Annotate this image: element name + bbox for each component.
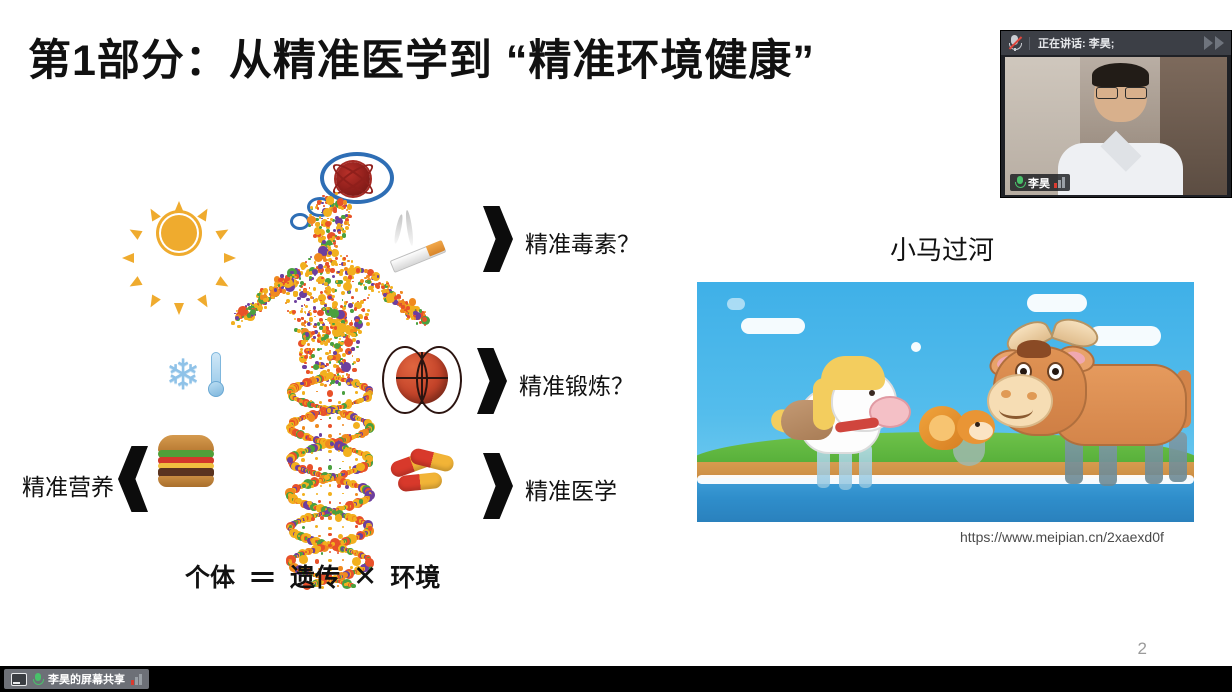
figure-dot <box>328 450 331 453</box>
sun-ray <box>146 206 161 221</box>
figure-dot <box>320 348 322 350</box>
equation-equals-icon: ＝ <box>248 555 277 597</box>
precision-health-diagram: ❄ 精准毒素？ 精准锻炼？ <box>0 120 680 600</box>
figure-dot <box>333 240 335 242</box>
figure-dot <box>304 362 306 364</box>
figure-dot <box>308 258 310 260</box>
figure-dot <box>287 310 289 312</box>
arrow-label-exercise: 精准锻炼？ <box>519 367 634 401</box>
arrow-label-toxins: 精准毒素？ <box>525 225 640 259</box>
cloud-icon <box>741 318 805 334</box>
equation-term-environment: 环境 <box>390 558 440 594</box>
figure-dot <box>342 233 346 237</box>
figure-dot <box>335 257 337 259</box>
figure-dot <box>364 269 367 272</box>
figure-dot <box>287 457 293 463</box>
figure-dot <box>322 240 326 244</box>
figure-dot <box>315 424 319 428</box>
figure-dot <box>305 305 309 309</box>
figure-dot <box>342 526 344 528</box>
figure-dot <box>352 363 354 365</box>
figure-dot <box>337 416 341 420</box>
figure-dot <box>406 306 410 310</box>
figure-dot <box>343 282 352 291</box>
figure-dot <box>241 320 243 322</box>
figure-dot <box>324 341 328 345</box>
figure-dot <box>329 417 331 419</box>
figure-dot <box>355 525 358 528</box>
figure-dot <box>319 326 323 330</box>
figure-dot <box>294 318 296 320</box>
participant-name: 李昊 <box>1028 175 1050 191</box>
figure-dot <box>330 309 338 317</box>
figure-dot <box>386 281 388 283</box>
equation-multiply-icon: ✕ <box>353 559 377 594</box>
figure-dot <box>349 434 351 436</box>
figure-dot <box>360 316 363 319</box>
figure-dot <box>362 308 365 311</box>
screen-share-label: 李昊的屏幕共享 <box>48 671 125 687</box>
figure-dot <box>320 384 322 386</box>
figure-dot <box>310 279 312 281</box>
figure-dot <box>346 518 348 520</box>
figure-dot <box>307 501 312 506</box>
figure-dot <box>340 255 342 257</box>
glasses-icon <box>1096 87 1118 99</box>
figure-dot <box>350 265 354 269</box>
figure-dot <box>310 371 313 374</box>
figure-dot <box>333 207 336 210</box>
video-panel-header[interactable]: 正在讲话: 李昊; <box>1001 31 1231 55</box>
figure-dot <box>363 299 366 302</box>
figure-dot <box>332 301 338 307</box>
chevron-right-icon[interactable] <box>1204 36 1224 50</box>
figure-dot <box>322 195 324 197</box>
figure-dot <box>318 535 320 537</box>
figure-dot <box>243 310 248 315</box>
figure-dot <box>316 366 319 369</box>
figure-dot <box>329 459 331 461</box>
figure-dot <box>355 484 357 486</box>
figure-dot <box>369 392 371 394</box>
figure-dot <box>336 361 338 363</box>
figure-dot <box>317 310 324 317</box>
figure-dot <box>320 291 323 294</box>
arrow-label-medicine: 精准医学 <box>525 472 617 506</box>
figure-dot <box>315 264 317 266</box>
audio-bars-icon <box>131 674 142 685</box>
figure-dot <box>282 289 286 293</box>
figure-dot <box>327 218 329 220</box>
figure-dot <box>307 343 310 346</box>
figure-dot <box>231 321 235 325</box>
figure-dot <box>346 399 352 405</box>
figure-dot <box>343 276 347 280</box>
figure-dot <box>302 365 306 369</box>
figure-dot <box>309 318 311 320</box>
figure-dot <box>381 283 384 286</box>
figure-dot <box>367 457 372 462</box>
figure-dot <box>411 316 414 319</box>
figure-dot <box>284 278 288 282</box>
figure-dot <box>345 214 348 217</box>
participant-hair <box>1092 63 1150 88</box>
figure-dot <box>328 544 331 547</box>
speaking-label: 正在讲话: 李昊; <box>1038 35 1114 51</box>
figure-dot <box>319 433 322 436</box>
figure-dot <box>345 551 347 553</box>
figure-dot <box>318 264 323 269</box>
figure-dot <box>399 296 402 299</box>
figure-dot <box>338 231 341 234</box>
burger-icon <box>158 435 214 487</box>
figure-dot <box>305 312 307 314</box>
figure-dot <box>378 291 380 293</box>
figure-dot <box>368 286 372 290</box>
figure-dot <box>332 323 334 325</box>
figure-dot <box>329 501 331 503</box>
figure-dot <box>351 333 355 337</box>
figure-dot <box>387 290 389 292</box>
figure-dot <box>313 287 316 290</box>
figure-dot <box>309 435 312 438</box>
figure-dot <box>313 299 316 302</box>
figure-dot <box>278 284 281 287</box>
figure-dot <box>323 208 332 217</box>
figure-dot <box>311 354 315 358</box>
screen-share-status-chip[interactable]: 李昊的屏幕共享 <box>4 669 149 689</box>
figure-dot <box>317 207 319 209</box>
figure-dot <box>298 535 300 537</box>
figure-dot <box>311 517 315 521</box>
sun-ray <box>174 201 184 213</box>
figure-dot <box>334 326 338 330</box>
arrow-right-exercise-icon <box>477 348 507 414</box>
figure-dot <box>319 357 322 360</box>
figure-dot <box>351 260 354 263</box>
figure-dot <box>305 261 307 263</box>
figure-dot <box>356 463 365 472</box>
figure-dot <box>360 279 364 283</box>
figure-dot <box>320 321 323 324</box>
figure-dot <box>332 510 336 514</box>
sun-ray <box>215 225 230 240</box>
figure-dot <box>300 348 303 351</box>
figure-dot <box>269 286 273 290</box>
figure-dot <box>326 372 333 379</box>
figure-dot <box>310 256 312 258</box>
figure-dot <box>356 450 358 452</box>
figure-dot <box>409 298 416 305</box>
figure-dot <box>312 269 318 275</box>
figure-dot <box>355 288 358 291</box>
figure-dot <box>342 424 344 426</box>
figure-dot <box>342 461 344 463</box>
figure-dot <box>338 401 340 403</box>
figure-dot <box>360 534 364 538</box>
figure-dot <box>296 281 299 284</box>
figure-dot <box>321 202 323 204</box>
cloud-icon <box>727 298 745 310</box>
sun-ray <box>127 225 142 240</box>
figure-dot <box>337 271 339 273</box>
figure-dot <box>367 309 370 312</box>
figure-dot <box>358 434 361 437</box>
figure-dot <box>311 224 313 226</box>
sun-ray <box>197 294 212 309</box>
thermometer-icon <box>208 352 222 400</box>
figure-dot <box>406 318 408 320</box>
figure-dot <box>351 296 354 299</box>
figure-dot <box>328 465 332 469</box>
figure-dot <box>344 221 347 224</box>
figure-dot <box>301 340 306 345</box>
figure-dot <box>330 442 334 446</box>
figure-dot <box>390 286 394 290</box>
figure-dot <box>339 433 341 435</box>
figure-dot <box>329 384 331 386</box>
sun-ray <box>174 303 184 315</box>
figure-dot <box>313 551 315 553</box>
image-source-caption: https://www.meipian.cn/2xaexd0f <box>960 529 1164 545</box>
figure-dot <box>328 434 332 438</box>
video-panel[interactable]: 正在讲话: 李昊; 李昊 <box>1001 31 1231 197</box>
figure-dot <box>307 534 311 538</box>
slide-canvas: 第1部分：从精准医学到 “精准环境健康” ❄ <box>0 0 1232 692</box>
figure-dot <box>353 422 360 429</box>
figure-dot <box>339 468 341 470</box>
figure-dot <box>323 340 325 342</box>
figure-dot <box>348 211 351 214</box>
figure-dot <box>328 533 331 536</box>
figure-dot <box>323 205 325 207</box>
figure-dot <box>317 200 322 205</box>
figure-dot <box>351 347 354 350</box>
figure-dot <box>307 313 310 316</box>
figure-dot <box>302 484 306 488</box>
figure-dot <box>356 340 360 344</box>
figure-dot <box>278 278 283 283</box>
figure-dot <box>355 319 359 323</box>
figure-dot <box>342 391 345 394</box>
arrow-label-nutrition: 精准营养 <box>22 468 114 502</box>
figure-dot <box>330 342 333 345</box>
figure-dot <box>250 303 252 305</box>
sun-ray <box>146 294 161 309</box>
figure-dot <box>311 485 314 488</box>
figure-dot <box>314 316 316 318</box>
figure-dot <box>327 390 333 396</box>
figure-dot <box>308 291 310 293</box>
figure-dot <box>339 270 343 274</box>
figure-dot <box>364 286 367 289</box>
sun-ray <box>127 276 142 291</box>
arrow-left-nutrition-icon <box>118 446 148 512</box>
sun-ray <box>122 253 134 263</box>
figure-dot <box>368 526 372 530</box>
figure-dot <box>257 305 263 311</box>
figure-dot <box>335 245 338 248</box>
identity-equation: 个体 ＝ 遗传 ✕ 环境 <box>185 555 440 597</box>
figure-dot <box>336 365 338 367</box>
pony-character <box>777 348 917 478</box>
figure-dot <box>308 224 311 227</box>
figure-dot <box>366 322 370 326</box>
figure-dot <box>325 268 329 272</box>
figure-dot <box>293 292 297 296</box>
figure-dot <box>308 311 310 313</box>
figure-dot <box>302 426 306 430</box>
figure-dot <box>348 215 352 219</box>
figure-dot <box>402 299 404 301</box>
screen-share-icon <box>11 673 27 686</box>
glasses-icon <box>1125 87 1147 99</box>
figure-dot <box>289 391 292 394</box>
snowflake-thermometer-icon: ❄ <box>160 348 232 404</box>
figure-dot <box>301 305 303 307</box>
figure-dot <box>327 408 331 412</box>
figure-dot <box>326 229 330 233</box>
figure-dot <box>355 391 358 394</box>
dotted-human-dna-figure <box>235 180 425 600</box>
figure-dot <box>320 419 322 421</box>
figure-dot <box>302 526 305 529</box>
figure-dot <box>335 514 343 522</box>
figure-dot <box>311 452 313 454</box>
figure-dot <box>320 449 322 451</box>
mic-on-icon[interactable] <box>33 673 42 686</box>
figure-dot <box>237 325 240 328</box>
figure-dot <box>337 323 347 333</box>
sun-ray <box>197 206 212 221</box>
figure-dot <box>313 234 317 238</box>
figure-dot <box>302 493 305 496</box>
figure-dot <box>363 284 365 286</box>
mic-on-icon[interactable] <box>1015 176 1024 189</box>
figure-dot <box>331 249 339 257</box>
figure-dot <box>342 353 346 357</box>
figure-dot <box>347 260 350 263</box>
figure-dot <box>313 310 316 313</box>
figure-dot <box>305 551 307 553</box>
figure-dot <box>320 516 324 520</box>
figure-dot <box>341 207 345 211</box>
ox-character <box>987 318 1194 488</box>
figure-dot <box>289 525 292 528</box>
figure-dot <box>289 426 291 428</box>
figure-dot <box>301 458 305 462</box>
figure-dot <box>311 331 315 335</box>
figure-dot <box>367 297 369 299</box>
equation-term-genetics: 遗传 <box>290 558 340 594</box>
figure-dot <box>306 335 308 337</box>
figure-dot <box>356 268 360 272</box>
figure-dot <box>310 323 312 325</box>
figure-dot <box>348 501 352 505</box>
figure-dot <box>263 298 267 302</box>
figure-dot <box>300 382 304 386</box>
figure-dot <box>329 551 332 554</box>
figure-dot <box>301 264 303 266</box>
participant-badge: 李昊 <box>1010 174 1070 191</box>
figure-dot <box>319 401 323 405</box>
figure-dot <box>344 338 353 347</box>
figure-dot <box>333 351 337 355</box>
figure-dot <box>318 467 322 471</box>
figure-dot <box>330 268 335 273</box>
pony-crossing-river-image <box>697 282 1194 522</box>
figure-dot <box>357 399 361 403</box>
figure-dot <box>264 306 266 308</box>
figure-dot <box>315 457 318 460</box>
figure-dot <box>303 289 307 293</box>
figure-dot <box>337 552 339 554</box>
figure-dot <box>356 382 360 386</box>
figure-dot <box>368 294 370 296</box>
figure-dot <box>358 330 362 334</box>
figure-dot <box>316 493 318 495</box>
figure-dot <box>352 355 354 357</box>
figure-dot <box>320 485 322 487</box>
figure-dot <box>306 265 308 267</box>
video-feed[interactable]: 李昊 <box>1005 57 1227 195</box>
mic-muted-icon[interactable] <box>1008 35 1021 51</box>
figure-dot <box>309 287 311 289</box>
figure-dot <box>335 235 337 237</box>
figure-dot <box>326 363 330 367</box>
figure-dot <box>301 265 305 269</box>
figure-dot <box>328 527 331 530</box>
figure-dot <box>324 475 329 480</box>
audio-bars-icon <box>1054 177 1065 188</box>
figure-dot <box>343 336 345 338</box>
figure-dot <box>338 280 342 284</box>
figure-dot <box>300 310 303 313</box>
figure-dot <box>346 255 348 257</box>
figure-dot <box>307 464 313 470</box>
figure-dot <box>324 384 327 387</box>
picture-title: 小马过河 <box>890 230 994 267</box>
figure-dot <box>288 493 292 497</box>
figure-dot <box>367 319 369 321</box>
figure-dot <box>281 286 284 289</box>
figure-dot <box>336 372 338 374</box>
figure-dot <box>345 226 349 230</box>
figure-dot <box>299 285 302 288</box>
figure-dot <box>328 399 331 402</box>
figure-dot <box>312 339 315 342</box>
arrow-right-medicine-icon <box>483 453 513 519</box>
figure-dot <box>344 305 346 307</box>
sun-icon <box>148 202 210 264</box>
figure-dot <box>327 331 329 333</box>
divider <box>1029 37 1030 50</box>
figure-dot <box>325 221 331 227</box>
figure-dot <box>335 192 338 195</box>
figure-dot <box>328 516 331 519</box>
sun-ray <box>215 276 230 291</box>
figure-dot <box>346 369 349 372</box>
figure-dot <box>326 196 334 204</box>
figure-dot <box>328 492 332 496</box>
figure-dot <box>329 484 332 487</box>
figure-dot <box>369 492 371 494</box>
arrow-right-toxins-icon <box>483 206 513 272</box>
figure-dot <box>322 256 325 259</box>
figure-dot <box>333 229 336 232</box>
figure-dot <box>305 272 309 276</box>
figure-dot <box>286 299 290 303</box>
